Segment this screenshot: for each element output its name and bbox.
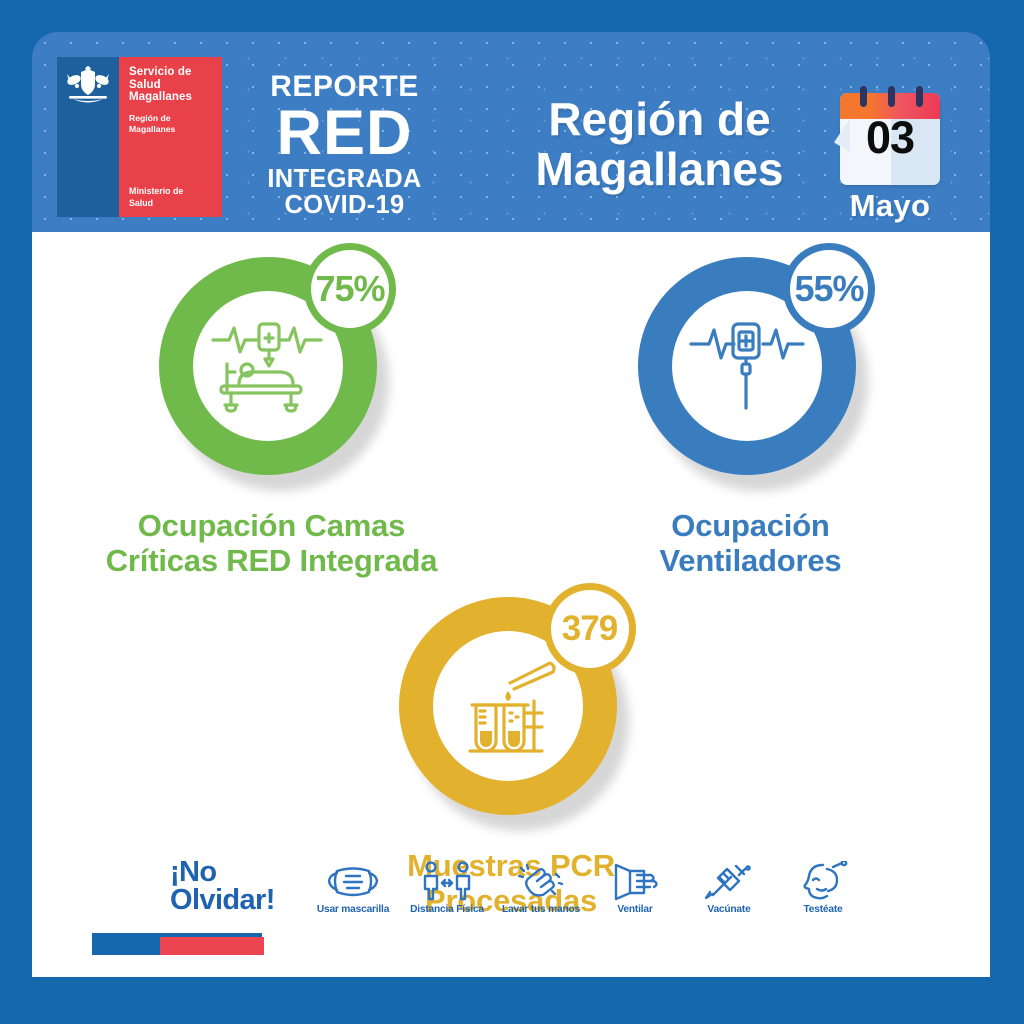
tip-vacunate: Vacúnate (690, 861, 768, 915)
calendar-ring (916, 86, 923, 107)
calendar-day: 03 (834, 112, 946, 164)
test-tubes-icon (454, 653, 562, 759)
content-card: 75% Ocupación Camas Críticas RED Integra… (32, 232, 990, 977)
report-title-line3: INTEGRADA (237, 167, 452, 193)
tip-label: Lavar tus manos (502, 904, 580, 915)
gauge-camas-criticas: 75% (149, 247, 394, 492)
prevention-tips-bar: ¡No Olvidar! Usar mascarilla (32, 858, 990, 915)
tip-label: Ventilar (596, 904, 674, 915)
tip-lavar-tus-manos: Lavar tus manos (502, 861, 580, 915)
tip-label: Distancia Física (408, 904, 486, 915)
ministry-logo: Servicio de Salud Magallanes Región de M… (57, 57, 222, 217)
calendar-ring (860, 86, 867, 107)
report-title-line4: COVID-19 (237, 193, 452, 219)
nasal-swab-icon (797, 861, 849, 901)
tip-testeate: Testéate (784, 861, 862, 915)
open-window-icon (608, 861, 662, 901)
report-title-line2: RED (237, 103, 452, 163)
date-block: 03 Mayo (830, 84, 950, 224)
calendar-icon: 03 (834, 84, 946, 186)
accent-bar-red (160, 937, 264, 955)
tip-label: Testéate (784, 904, 862, 915)
badge-muestras-pcr: 379 (544, 583, 636, 675)
no-olvidar-line2: Olvidar! (170, 886, 298, 914)
no-olvidar-line1: ¡No (170, 858, 298, 886)
header-panel: Servicio de Salud Magallanes Región de M… (32, 32, 990, 232)
metric-label-camas-criticas: Ocupación Camas Críticas RED Integrada (106, 508, 438, 578)
tip-label: Vacúnate (690, 904, 768, 915)
calendar-month: Mayo (830, 188, 950, 224)
metric-camas-criticas: 75% Ocupación Camas Críticas RED Integra… (32, 232, 511, 578)
report-title: REPORTE RED INTEGRADA COVID-19 (237, 72, 452, 218)
tip-icon-wrap (784, 861, 862, 901)
tip-icon-wrap (502, 861, 580, 901)
logo-blue-panel (57, 57, 119, 217)
tip-icon-wrap (596, 861, 674, 901)
logo-service-name: Servicio de Salud Magallanes (129, 66, 214, 104)
hospital-bed-icon (209, 316, 327, 416)
tip-label: Usar mascarilla (314, 904, 392, 915)
tip-icon-wrap (408, 861, 486, 901)
tip-usar-mascarilla: Usar mascarilla (314, 861, 392, 915)
logo-red-panel: Servicio de Salud Magallanes Región de M… (119, 57, 222, 217)
tip-distancia-fisica: Distancia Física (408, 861, 486, 915)
region-title: Región de Magallanes (487, 94, 832, 194)
syringe-icon (703, 861, 755, 901)
calendar-ring (888, 86, 895, 107)
metric-label-ventiladores: Ocupación Ventiladores (660, 508, 842, 578)
tip-icon-wrap (314, 861, 392, 901)
tip-ventilar: Ventilar (596, 861, 674, 915)
face-mask-icon (324, 863, 382, 901)
social-distance-icon (418, 861, 476, 901)
gauge-ventiladores: 55% (628, 247, 873, 492)
badge-ventiladores: 55% (783, 243, 875, 335)
metric-ventiladores: 55% Ocupación Ventiladores (511, 232, 990, 578)
ventilator-icon (687, 314, 807, 418)
gauge-muestras-pcr: 379 (389, 587, 634, 832)
logo-ministry-name: Ministerio de Salud (129, 186, 183, 209)
chile-coat-of-arms-icon (65, 65, 111, 107)
logo-region-name: Región de Magallanes (129, 113, 214, 136)
tip-icon-wrap (690, 861, 768, 901)
badge-camas-criticas: 75% (304, 243, 396, 335)
wash-hands-icon (512, 861, 570, 901)
no-olvidar-headline: ¡No Olvidar! (170, 858, 298, 915)
metrics-row-top: 75% Ocupación Camas Críticas RED Integra… (32, 232, 990, 578)
poster-root: Servicio de Salud Magallanes Región de M… (0, 0, 1024, 1024)
